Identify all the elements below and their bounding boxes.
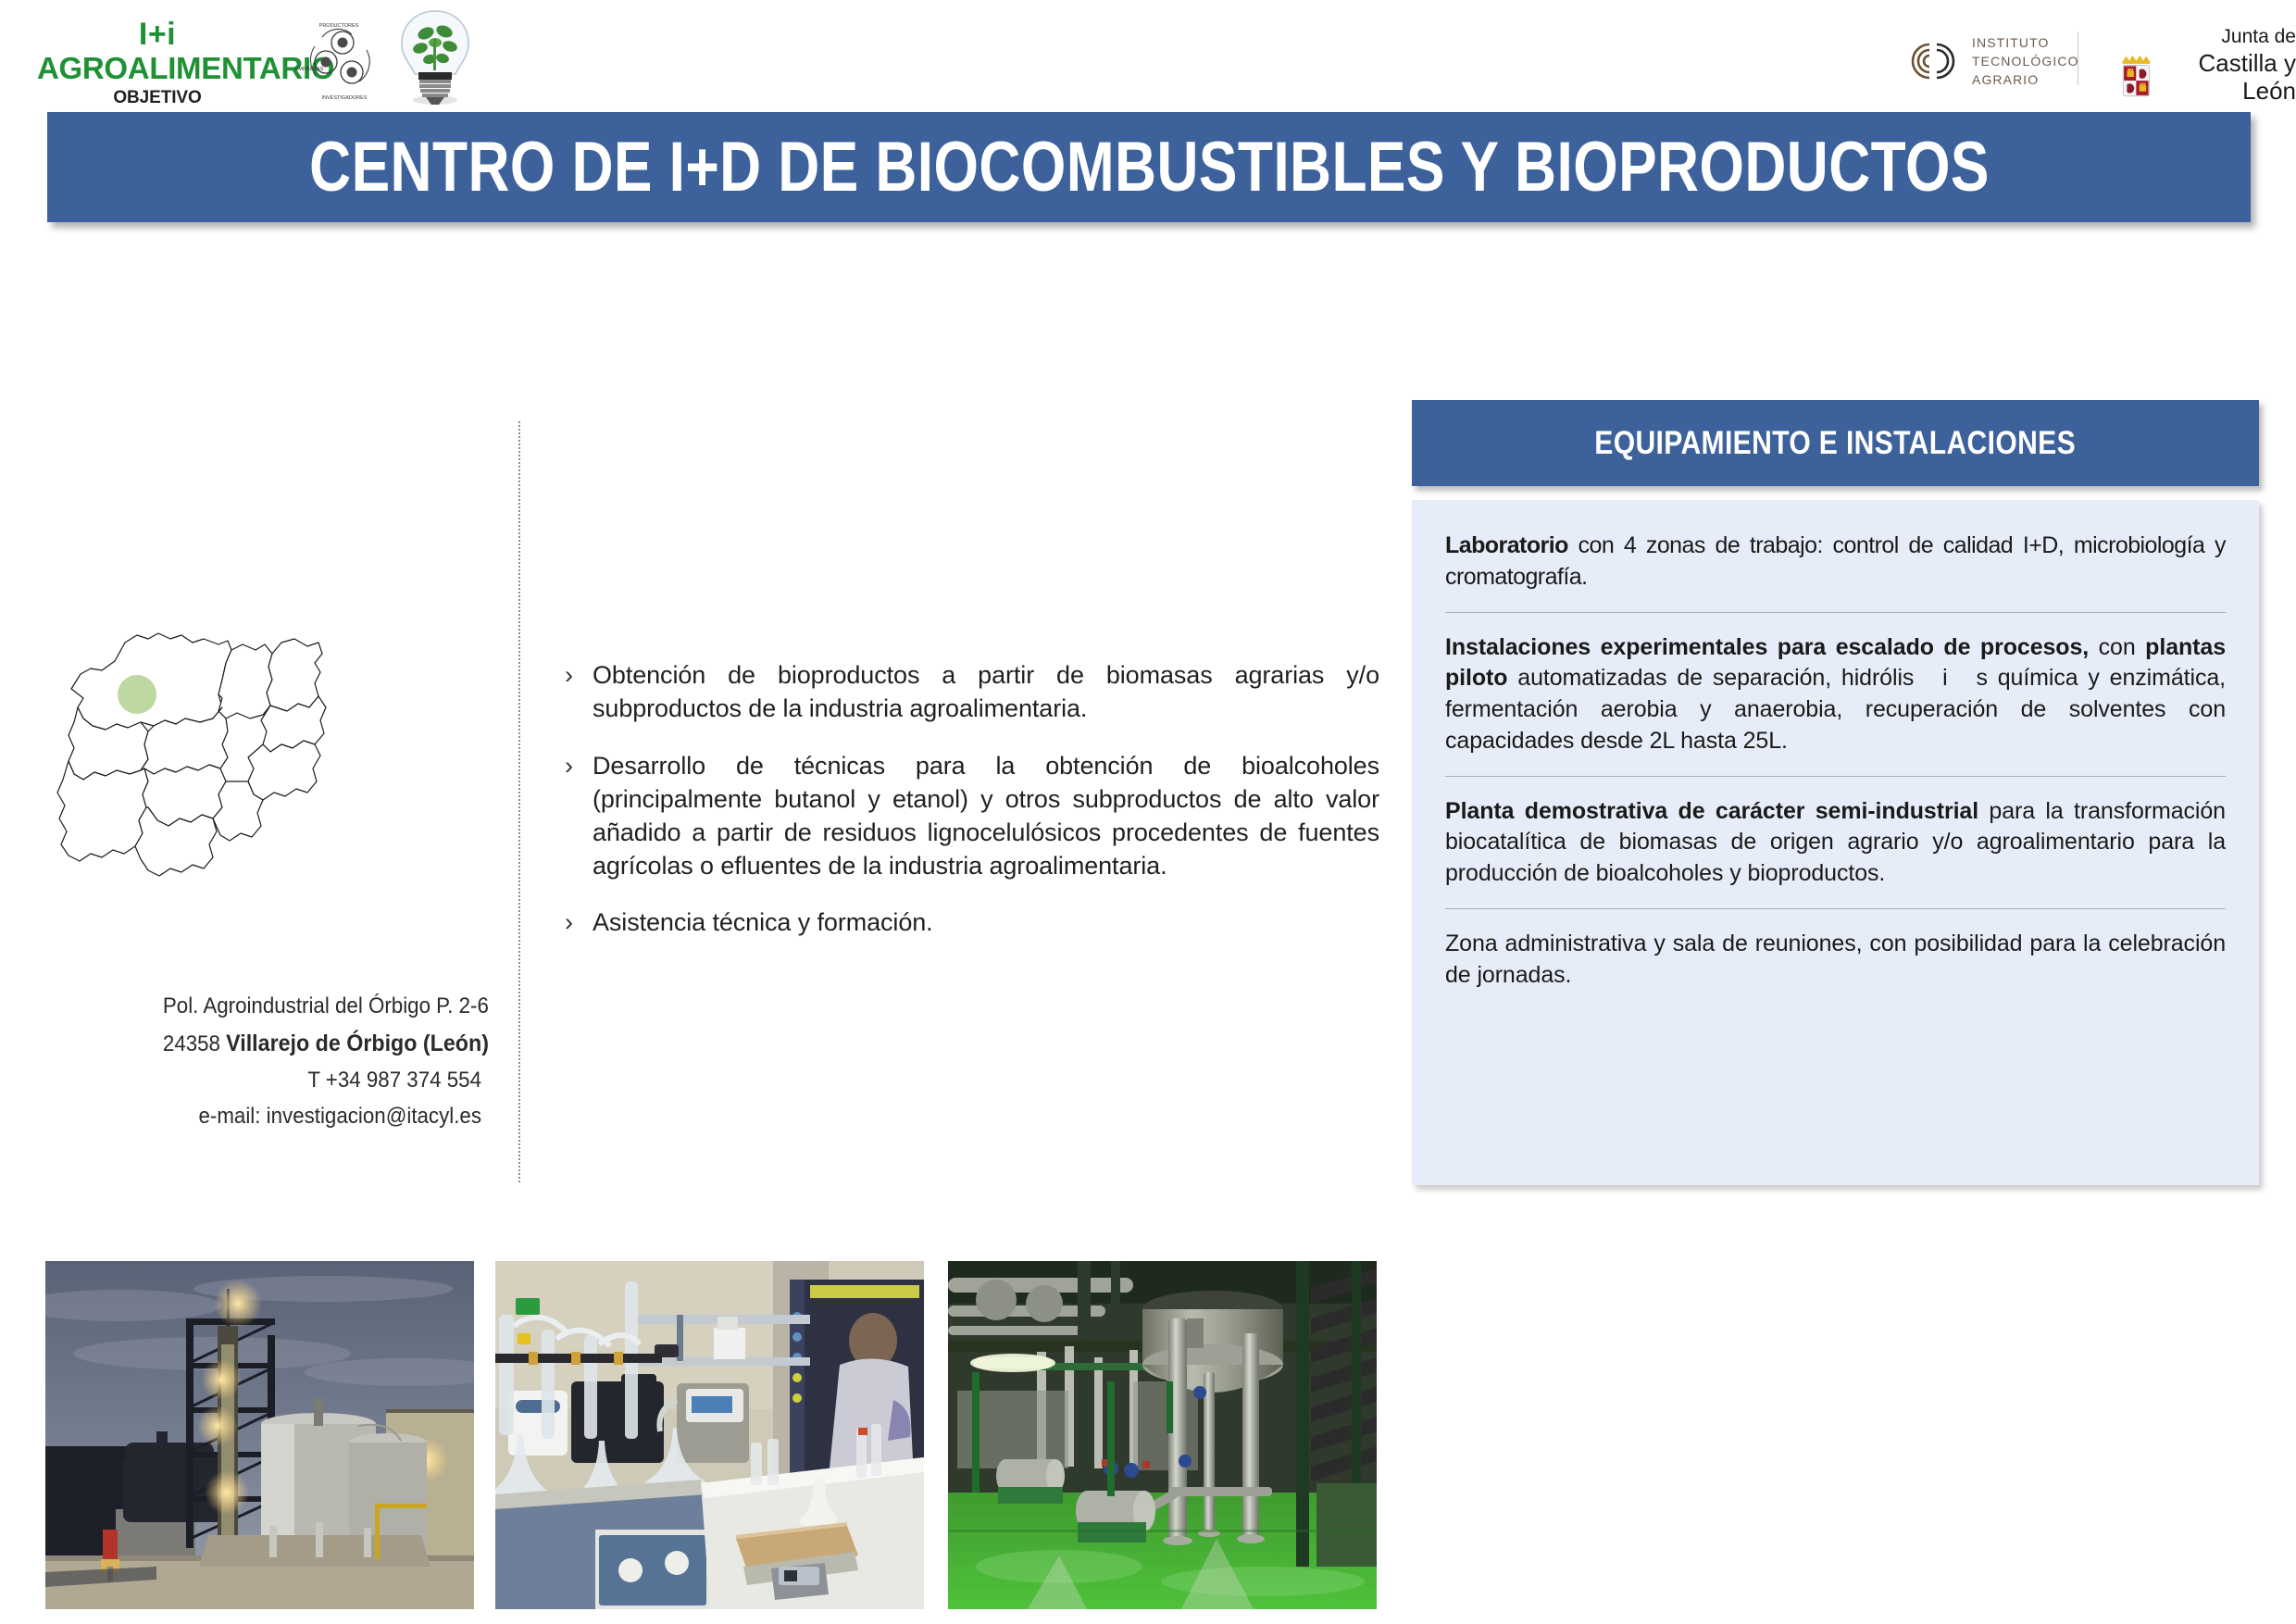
jcyl-text-block: Junta de Castilla y León [2165,26,2296,107]
list-item: › Obtención de bioproductos a partir de … [565,659,1379,726]
chevron-right-icon: › [565,906,593,940]
equipment-item-body: Zona administrativa y sala de reuniones,… [1445,931,2226,988]
equipment-item-instalaciones: Instalaciones experimentales para escala… [1445,632,2226,776]
photo-3-svg [948,1261,1377,1609]
equipment-item-planta: Planta demostrativa de carácter semi-ind… [1445,796,2226,908]
ita-text-block: INSTITUTO TECNOLÓGICO AGRARIO [1972,33,2079,90]
location-marker [118,675,156,714]
list-item-text: Asistencia técnica y formación. [593,906,1379,940]
equipment-panel-title: EQUIPAMIENTO E INSTALACIONES [1595,425,2077,462]
list-item: › Desarrollo de técnicas para la obtenci… [565,750,1379,883]
svg-text:PRODUCTORES: PRODUCTORES [319,23,359,29]
header-divider [2078,31,2078,85]
ita-line-2: TECNOLÓGICO [1972,52,2079,70]
equipment-panel-header: EQUIPAMIENTO E INSTALACIONES [1412,400,2259,486]
jcyl-line-1: Junta de [2165,26,2296,49]
instituto-tecnologico-agrario-logo: INSTITUTO TECNOLÓGICO AGRARIO [1907,37,2079,85]
map-svg [37,622,333,937]
ita-line-3: AGRARIO [1972,70,2079,89]
equipment-item-lead: Laboratorio [1445,532,1568,558]
equipment-item-mid-pre: con [2089,634,2145,660]
vertical-dotted-divider [518,421,520,1182]
photo-industrial-plant [45,1261,474,1609]
coat-of-arms-icon [2115,46,2157,107]
page-header: I+i AGROALIMENTARIO OBJETIVO COMPETITIVI… [0,0,2296,112]
page-title: CENTRO DE I+D DE BIOCOMBUSTIBLES Y BIOPR… [309,127,1990,207]
photo-laboratory [495,1261,924,1609]
svg-text:INVESTIGADORES: INVESTIGADORES [322,95,368,101]
list-item-text: Obtención de bioproductos a partir de bi… [593,659,1379,726]
castilla-y-leon-map [37,622,333,937]
equipment-item-lead: Instalaciones experimentales para escala… [1445,634,2089,660]
chevron-right-icon: › [565,750,593,883]
photo-pilot-plant [948,1261,1377,1609]
ita-line-1: INSTITUTO [1972,33,2079,52]
chevron-right-icon: › [565,659,593,726]
equipment-panel-body: Laboratorio con 4 zonas de trabajo: cont… [1412,500,2259,1185]
address-city-bold: Villarejo de Órbigo (León) [226,1031,489,1056]
panel-separator [1445,908,2226,909]
main-title-banner: CENTRO DE I+D DE BIOCOMBUSTIBLES Y BIOPR… [47,112,2251,222]
address-street: Pol. Agroindustrial del Órbigo P. 2-6 [163,989,481,1025]
jcyl-line-2: Castilla y León [2165,49,2296,106]
address-city: 24358 Villarejo de Órbigo (León) [163,1025,481,1063]
logo-line-agroalimentario: AGROALIMENTARIO [37,52,278,85]
equipment-item-zona: Zona administrativa y sala de reuniones,… [1445,929,2226,1010]
logo-line-ii: I+i [37,17,278,52]
equipment-item-laboratorio: Laboratorio con 4 zonas de trabajo: cont… [1445,531,2226,612]
junta-castilla-leon-logo: Junta de Castilla y León [2115,26,2296,107]
ita-spiral-icon [1907,41,1959,81]
objectives-list: › Obtención de bioproductos a partir de … [565,659,1379,940]
equipment-item-spaced-letters: s i s [1903,665,1988,691]
equipment-item-lead: Planta demostrativa de carácter semi-ind… [1445,798,1978,824]
address-phone: T +34 987 374 554 [163,1063,481,1099]
photo-2-svg [495,1261,924,1609]
address-email: e-mail: investigacion@itacyl.es [163,1099,481,1135]
lightbulb-plant-icon [393,7,478,107]
contact-address-block: Pol. Agroindustrial del Órbigo P. 2-6 24… [139,989,481,1135]
equipment-item-body: automatizadas de separación, hidróli [1507,665,1902,691]
panel-separator [1445,776,2226,777]
list-item-text: Desarrollo de técnicas para la obtención… [593,750,1379,883]
list-item: › Asistencia técnica y formación. [565,906,1379,940]
panel-separator [1445,612,2226,613]
gears-network-icon: PRODUCTORES EMPRESAS INVESTIGADORES [294,19,383,102]
photo-1-svg [45,1261,474,1609]
